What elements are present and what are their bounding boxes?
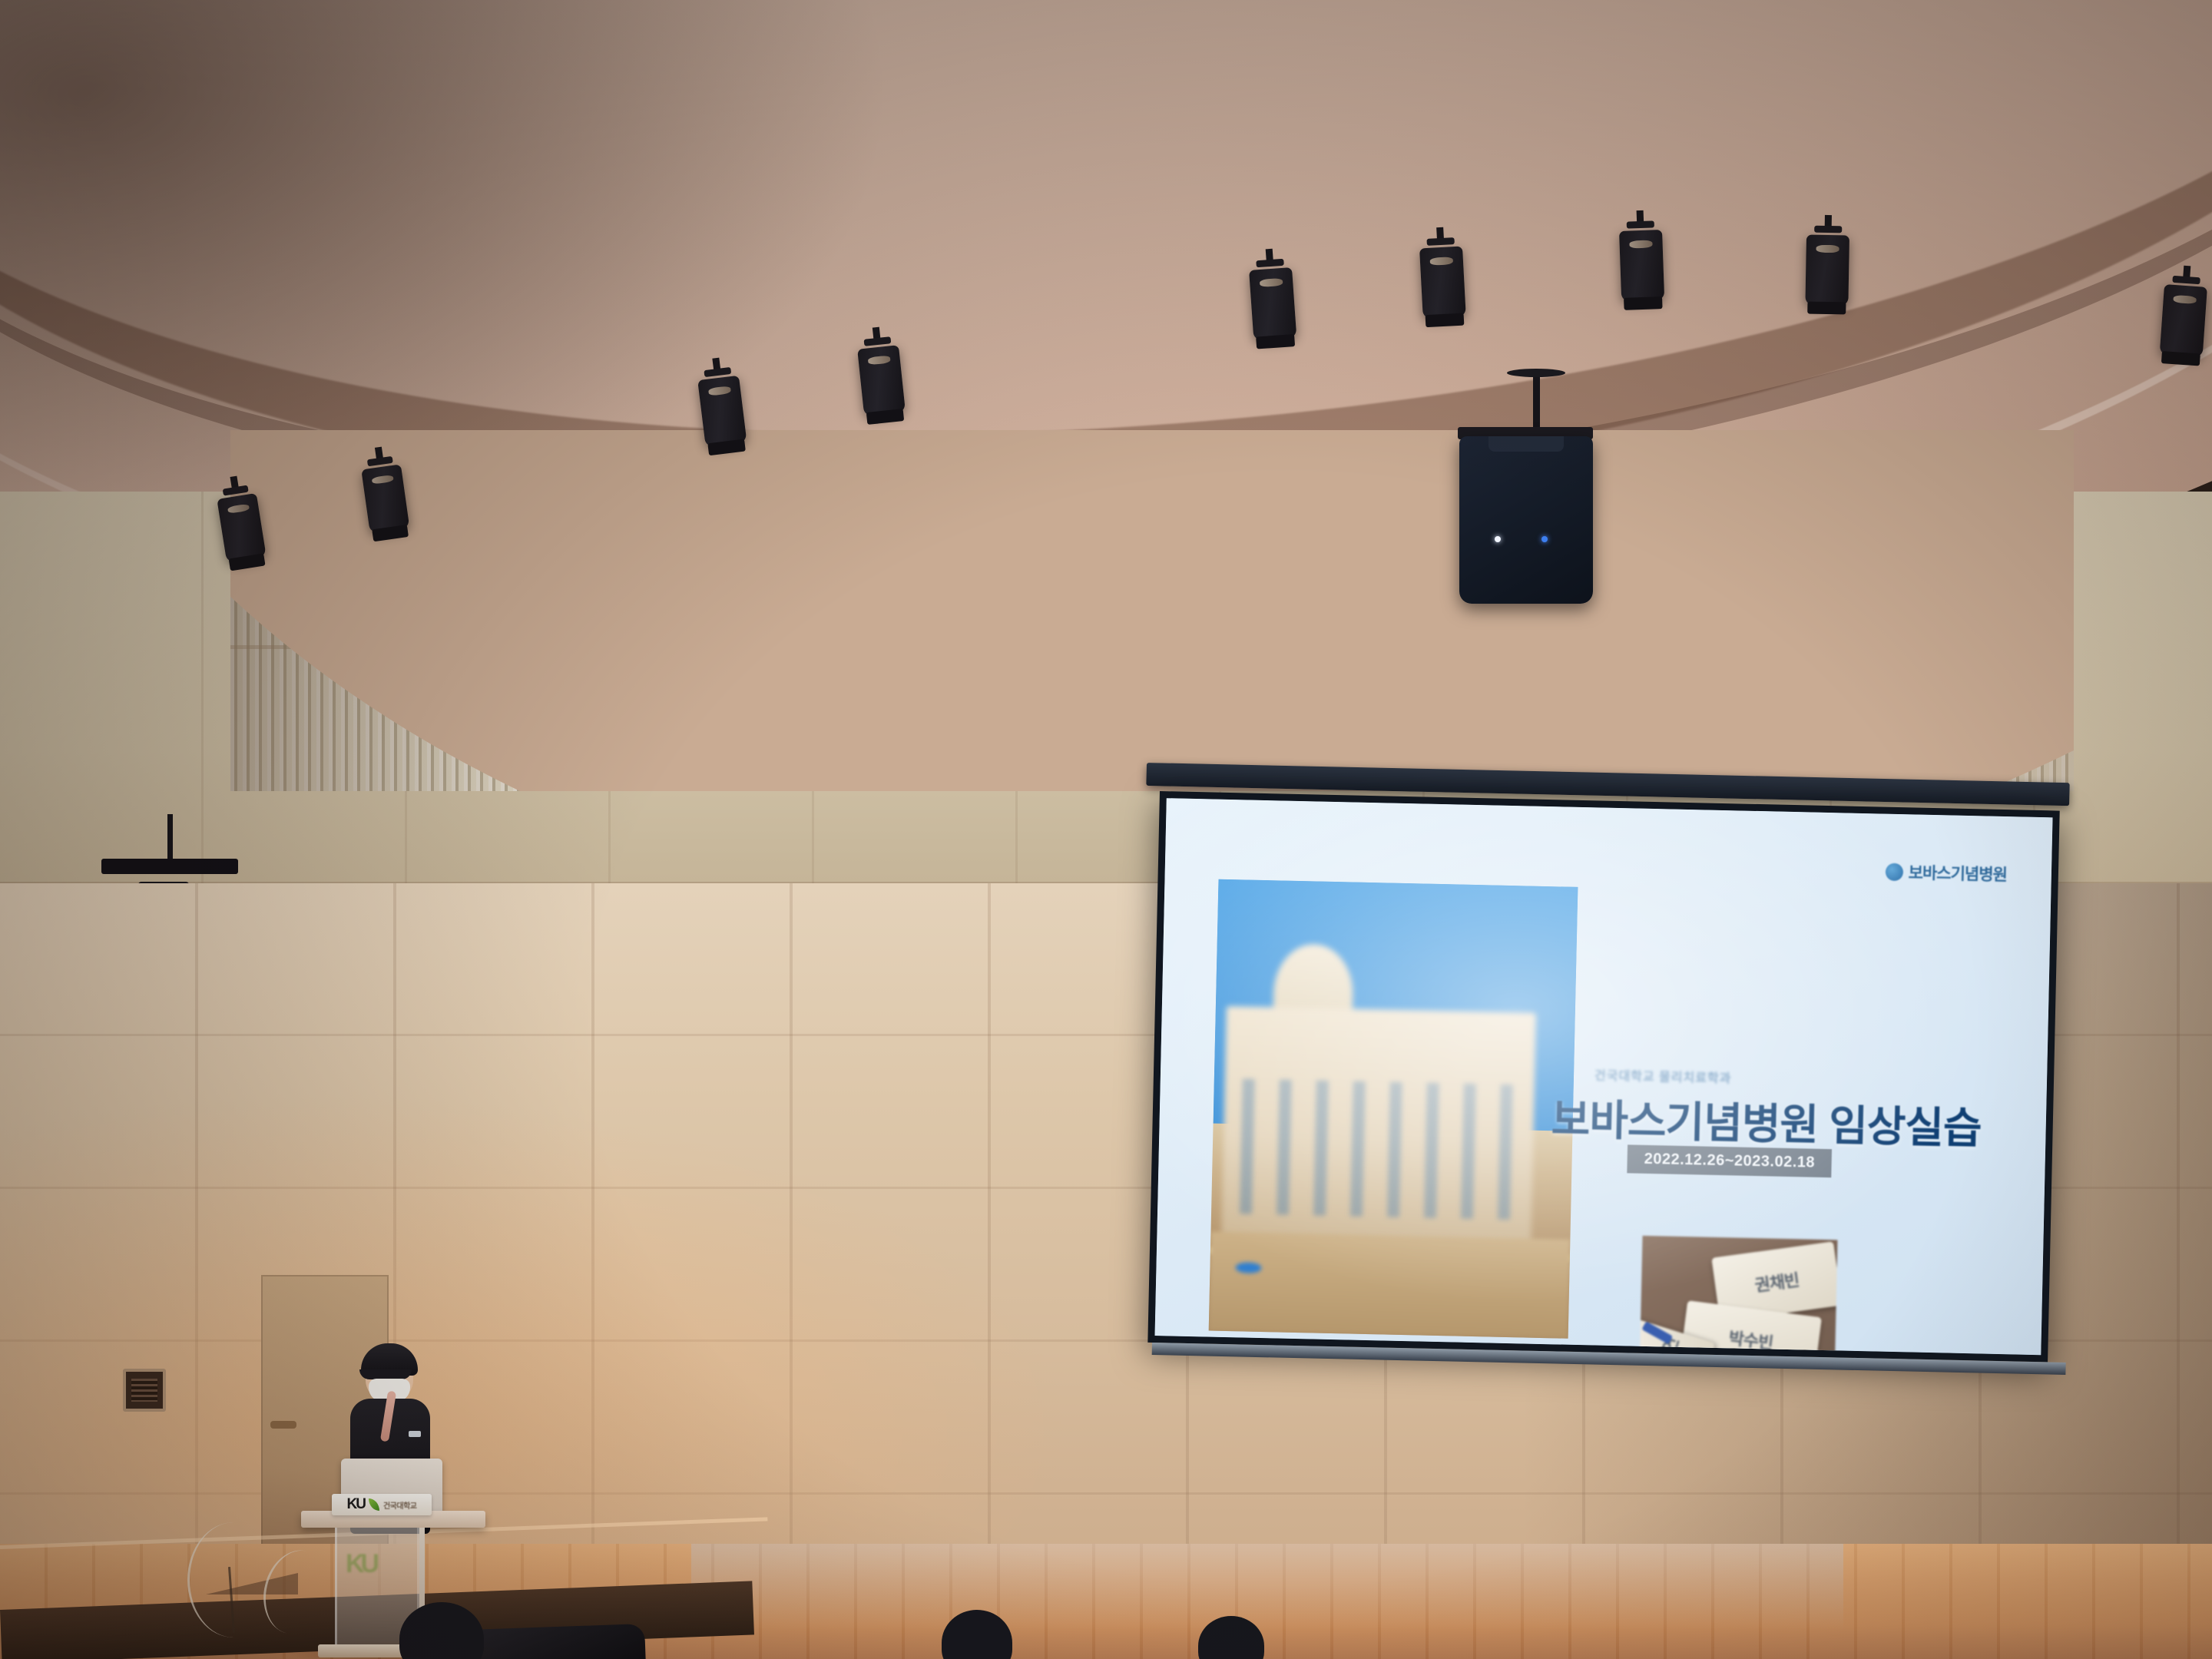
photo-building-windows (1240, 1078, 1523, 1220)
acoustic-slat-panel (230, 430, 2074, 791)
university-name: 건국대학교 (383, 1499, 417, 1511)
light-yoke (1426, 237, 1454, 246)
stage-light (697, 376, 747, 448)
speaker-crossbar (101, 859, 238, 874)
screen-surface: 보바스기념병원 건국대학교 물리치료학과 보바스기념병원 임상실습 2022.1… (1155, 798, 2053, 1355)
stage-light (1805, 235, 1849, 306)
status-led-white (1495, 536, 1501, 542)
university-logo-mark: KU (347, 1496, 365, 1513)
stage-light (2160, 284, 2207, 358)
wall-control-panel[interactable] (123, 1369, 166, 1412)
slide-date-range: 2022.12.26~2023.02.18 (1627, 1144, 1832, 1177)
lectern-glass-logo: KU (346, 1549, 376, 1579)
badge-name: 박수빈 (1727, 1324, 1774, 1354)
slide-title: 보바스기념병원 임상실습 (1551, 1084, 1982, 1155)
photo-ground (1209, 1231, 1571, 1339)
panel-vents (131, 1379, 157, 1402)
auditorium-photo: 보바스기념병원 건국대학교 물리치료학과 보바스기념병원 임상실습 2022.1… (0, 0, 2212, 1659)
projector-hanger-rod (1533, 375, 1540, 435)
hospital-building-photo (1209, 879, 1578, 1339)
light-foot (1426, 313, 1464, 328)
light-foot (2161, 351, 2200, 366)
status-led-blue (1541, 536, 1548, 542)
light-foot (1256, 334, 1294, 349)
lapel-pin (409, 1431, 421, 1437)
light-foot (1808, 302, 1846, 315)
stage-light (857, 345, 906, 416)
hospital-logo: 보바스기념병원 (1885, 860, 2007, 886)
photo-blue-marker (1235, 1262, 1261, 1273)
hospital-logo-text: 보바스기념병원 (1908, 860, 2007, 886)
projection-screen: 보바스기념병원 건국대학교 물리치료학과 보바스기념병원 임상실습 2022.1… (1147, 791, 2059, 1362)
light-lens (1816, 245, 1839, 253)
name-badges-photo: 권채빈 박수빈 김미연 (1639, 1236, 1838, 1355)
badge-name: 권채빈 (1753, 1267, 1800, 1296)
projector-ceiling-plate (1507, 369, 1565, 377)
light-foot (1624, 296, 1662, 310)
speaker-hanger-rod (167, 814, 173, 862)
slat-arc-mask (230, 430, 2074, 791)
hospital-logo-mark (1885, 863, 1902, 880)
door-handle[interactable] (270, 1421, 296, 1429)
university-logo-leaf-icon (369, 1498, 379, 1511)
projector-notch (1488, 436, 1563, 452)
stage-light (1419, 247, 1466, 320)
slide-subtitle: 건국대학교 물리치료학과 (1594, 1065, 1732, 1086)
light-yoke (1627, 220, 1654, 228)
stage-light (1249, 267, 1296, 341)
light-yoke (1814, 226, 1842, 233)
stage-light (1619, 230, 1664, 302)
lectern-plaque: KU 건국대학교 (332, 1494, 432, 1515)
ceiling-projector-speaker (1459, 436, 1593, 604)
presentation-slide: 보바스기념병원 건국대학교 물리치료학과 보바스기념병원 임상실습 2022.1… (1155, 798, 2053, 1355)
